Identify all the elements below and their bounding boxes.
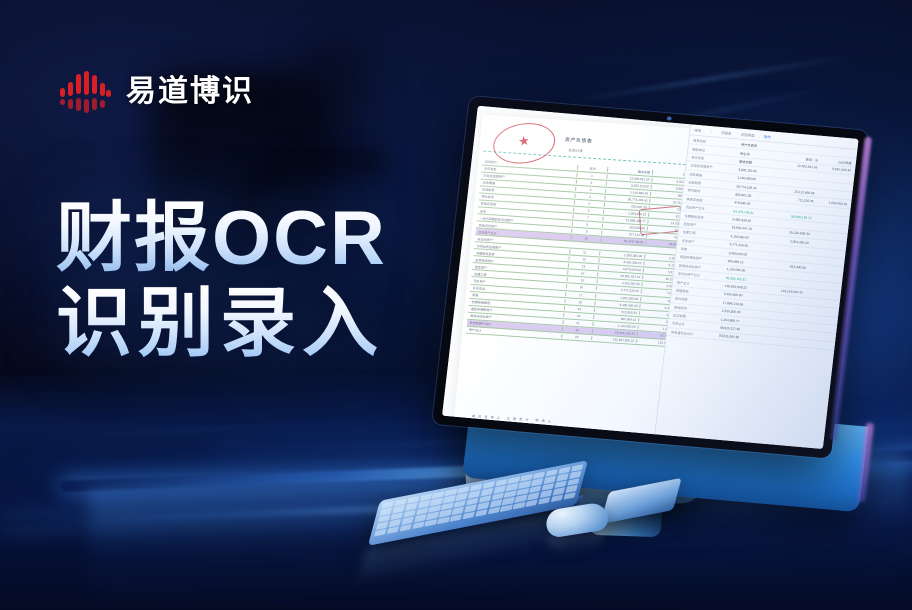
ocr-cell: 9,810,442.30 — [817, 166, 851, 173]
headline-line-1: 财报OCR — [56, 196, 387, 281]
ocr-cell: 83,911,691.92 — [719, 334, 764, 342]
webcam-icon — [667, 116, 672, 120]
ocr-cell — [765, 331, 798, 334]
ocr-cell — [783, 173, 816, 176]
document-cell: 18 — [564, 299, 594, 305]
screen-content[interactable]: 资产负债表 会企01表 流动资产：行次期末余额年初余额货币资金112,483,9… — [442, 106, 859, 449]
keyboard-key[interactable] — [513, 502, 526, 510]
logo-bar — [60, 99, 65, 105]
ocr-cell — [773, 257, 806, 260]
keyboard-key[interactable] — [551, 494, 564, 502]
waveform-dots-logo-icon — [58, 66, 110, 118]
keyboard-key[interactable] — [374, 529, 387, 537]
ocr-cell — [806, 268, 839, 271]
ocr-result-pane[interactable]: 序号!字段名识别内容操作 报表名称资产负债表编制单位甲公司单位：元2023年度货… — [655, 124, 858, 449]
document-cell: 9 — [570, 229, 600, 235]
ocr-cell — [801, 309, 834, 312]
keyboard-key[interactable] — [475, 509, 488, 517]
document-cell: 19 — [563, 306, 593, 312]
ocr-cell — [805, 276, 838, 279]
document-cell: 11 — [568, 250, 598, 256]
document-cell: 5 — [573, 201, 603, 207]
ocr-cell — [799, 326, 832, 329]
ocr-cell — [808, 251, 841, 254]
ocr-cell — [764, 340, 797, 343]
ocr-column-header: 字段名 — [721, 130, 732, 136]
headline-line-2: 识别录入 — [56, 281, 387, 366]
ocr-cell — [770, 282, 803, 285]
logo-bar — [60, 88, 65, 97]
document-footer: 单位负责人 主管会计 制表人 — [471, 414, 553, 424]
ocr-cell — [804, 284, 837, 287]
keyboard-key[interactable] — [538, 497, 551, 505]
ocr-cell — [777, 223, 810, 226]
brand-logo: 易道博识 — [58, 66, 254, 118]
document-cell: 2 — [575, 180, 605, 186]
document-subtitle: 会企01表 — [568, 149, 583, 155]
keyboard-key[interactable] — [525, 499, 538, 507]
logo-bar — [76, 98, 81, 111]
ocr-cell — [786, 148, 819, 151]
ocr-cell — [779, 207, 812, 210]
document-sheet: 资产负债表 会企01表 流动资产：行次期末余额年初余额货币资金112,483,9… — [453, 115, 691, 435]
document-cell: 8 — [571, 222, 601, 228]
ocr-cell — [813, 210, 846, 213]
ocr-cell — [768, 306, 801, 309]
keyboard-key[interactable] — [563, 492, 576, 500]
keyboard-key[interactable] — [488, 507, 501, 515]
document-cell: 16 — [565, 285, 595, 291]
ocr-cell — [803, 293, 836, 296]
ocr-cell — [814, 193, 847, 196]
logo-bar — [84, 99, 89, 113]
document-cell: 3 — [574, 187, 604, 193]
ocr-cell: 812,330.55 — [772, 263, 806, 270]
keyboard-key[interactable] — [425, 519, 438, 527]
document-cell: 17 — [564, 292, 594, 298]
keyboard-key[interactable] — [399, 524, 412, 532]
logo-bar — [100, 100, 105, 108]
document-cell: 21 — [562, 320, 592, 326]
ocr-cell: 12,483,921.55 — [784, 163, 818, 170]
ocr-cell: 123,142,007.41 — [769, 288, 803, 295]
ocr-column-header: 识别内容 — [741, 132, 755, 138]
ocr-cell — [768, 298, 801, 301]
ocr-cell — [797, 343, 830, 346]
ocr-cell — [815, 185, 848, 188]
keyboard-key[interactable] — [437, 517, 450, 525]
ocr-cell — [807, 259, 840, 262]
document-cell: 13 — [567, 264, 597, 270]
ocr-cell: 25,112,668.08 — [781, 188, 815, 195]
ocr-cell — [771, 273, 804, 276]
keyboard-key[interactable] — [412, 521, 425, 529]
logo-bar — [84, 71, 89, 95]
ocr-cell — [810, 235, 843, 238]
ocr-cell — [766, 323, 799, 326]
ocr-cell — [782, 182, 815, 185]
logo-bar — [68, 99, 73, 109]
keyboard-key[interactable] — [500, 504, 513, 512]
ocr-cell — [774, 248, 807, 251]
document-cell: 15 — [566, 278, 596, 284]
ocr-cell — [800, 318, 833, 321]
keyboard-key[interactable] — [462, 512, 475, 520]
document-cell — [599, 247, 644, 250]
ocr-column-header: ! — [711, 130, 712, 134]
logo-bar — [92, 75, 97, 94]
keyboard-key[interactable] — [387, 526, 400, 534]
document-cell: 20 — [563, 313, 593, 319]
ocr-cell — [812, 218, 845, 221]
ocr-cell — [811, 226, 844, 229]
ocr-cell — [819, 151, 852, 154]
document-cell: 4 — [574, 194, 604, 200]
ocr-cell: 711,226.45 — [780, 196, 814, 203]
logo-bar — [68, 82, 73, 96]
ocr-cell — [816, 176, 849, 179]
document-cell: 22 — [561, 327, 591, 333]
document-cell: 23 — [561, 334, 591, 340]
ocr-cell: 55,835,196.73 — [778, 213, 812, 220]
ocr-cell — [767, 315, 800, 318]
ocr-table-body[interactable]: 报表名称资产负债表编制单位甲公司单位：元2023年度货币资金期末余额12,483… — [667, 135, 858, 350]
monitor-bezel: 资产负债表 会企01表 流动资产：行次期末余额年初余额货币资金112,483,9… — [432, 96, 869, 459]
brand-name: 易道博识 — [126, 77, 254, 107]
keyboard-key[interactable] — [450, 514, 463, 522]
ocr-column-header: 操作 — [764, 134, 771, 140]
logo-bar — [76, 74, 81, 94]
logo-bar — [100, 83, 105, 96]
document-cell — [569, 245, 599, 247]
ocr-cell: 35,220,908.34 — [776, 230, 810, 237]
document-title: 资产负债表 — [564, 136, 592, 145]
page-title: 财报OCR 识别录入 — [56, 196, 387, 366]
scanned-document-pane[interactable]: 资产负债表 会企01表 流动资产：行次期末余额年初余额货币资金112,483,9… — [442, 106, 691, 435]
promo-banner: 资产负债表 会企01表 流动资产：行次期末余额年初余额货币资金112,483,9… — [0, 0, 912, 610]
document-table: 流动资产：行次期末余额年初余额货币资金112,483,921.559,810,4… — [460, 158, 691, 414]
document-cell: 7 — [572, 215, 602, 221]
document-cell: 1 — [576, 173, 606, 179]
document-cell: 10 — [570, 236, 600, 242]
document-cell: 6 — [572, 208, 602, 214]
document-cell: 132,831,809.22 — [591, 336, 636, 343]
ocr-cell — [802, 301, 835, 304]
logo-bar — [92, 98, 97, 110]
ocr-cell — [809, 243, 842, 246]
monitor-screen-assembly: 资产负债表 会企01表 流动资产：行次期末余额年初余额货币资金112,483,9… — [432, 96, 869, 459]
logo-bar — [106, 90, 111, 97]
document-cell: 12 — [568, 257, 598, 263]
ocr-cell: 1,003,455.19 — [813, 199, 847, 206]
ocr-cell: 2,004,330.00 — [775, 238, 809, 245]
ocr-cell — [798, 334, 831, 337]
ocr-cell: 所有者权益合计 — [671, 329, 719, 338]
ocr-column-header: 序号 — [694, 128, 701, 134]
document-cell: 14 — [566, 271, 596, 277]
